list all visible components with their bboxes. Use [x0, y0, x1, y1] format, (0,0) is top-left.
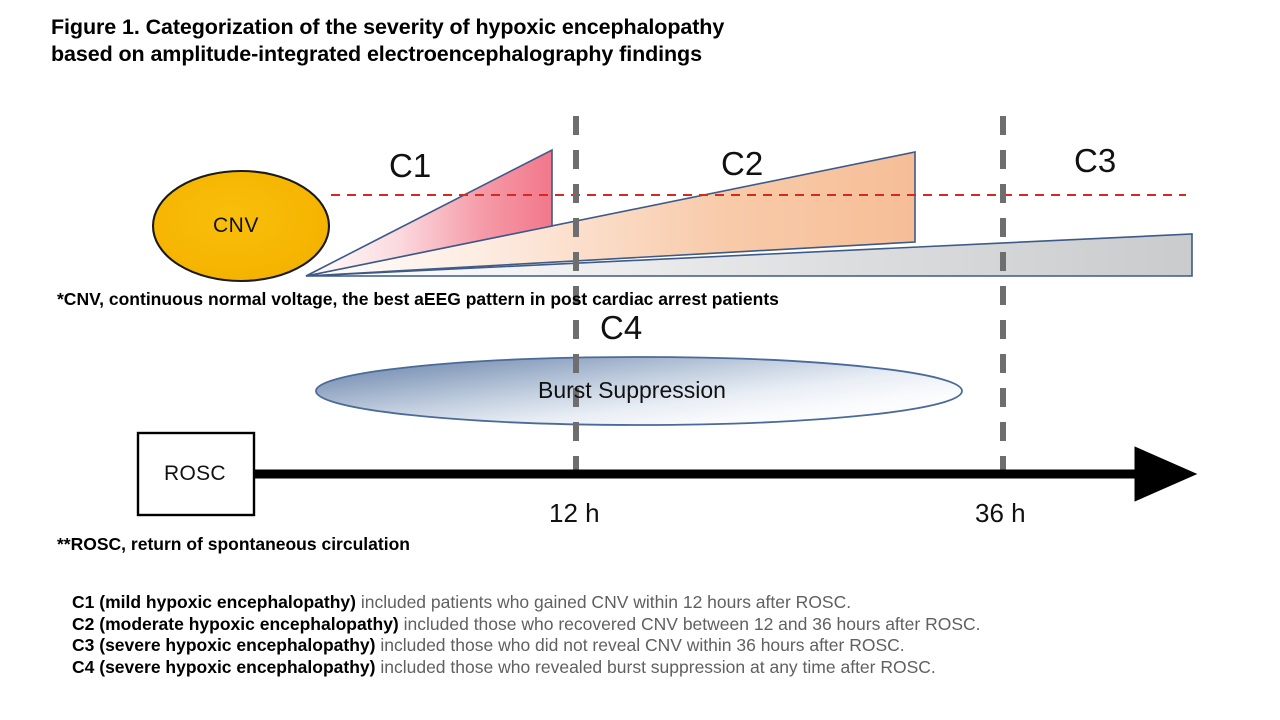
- legend-description: included those who recovered CNV between…: [404, 614, 981, 634]
- footnote-cnv: *CNV, continuous normal voltage, the bes…: [57, 291, 779, 309]
- category-label-c2: C2: [721, 147, 763, 180]
- legend-code: C2: [72, 614, 94, 634]
- burst-suppression-label: Burst Suppression: [538, 379, 726, 402]
- legend-severity: (moderate hypoxic encephalopathy): [99, 614, 399, 634]
- legend-block: C1 (mild hypoxic encephalopathy) include…: [72, 592, 1252, 678]
- legend-code: C1: [72, 592, 94, 612]
- legend-row: C3 (severe hypoxic encephalopathy) inclu…: [72, 635, 1252, 657]
- legend-code: C4: [72, 657, 94, 677]
- legend-description: included patients who gained CNV within …: [361, 592, 851, 612]
- legend-description: included those who did not reveal CNV wi…: [380, 635, 904, 655]
- legend-severity: (mild hypoxic encephalopathy): [99, 592, 356, 612]
- legend-severity: (severe hypoxic encephalopathy): [99, 657, 375, 677]
- legend-row: C4 (severe hypoxic encephalopathy) inclu…: [72, 657, 1252, 679]
- category-label-c3: C3: [1074, 144, 1116, 177]
- timeline-tick-36h: 36 h: [975, 500, 1026, 526]
- legend-description: included those who revealed burst suppre…: [380, 657, 935, 677]
- legend-row: C2 (moderate hypoxic encephalopathy) inc…: [72, 614, 1252, 636]
- cnv-ellipse-label: CNV: [213, 215, 259, 236]
- figure-container: Figure 1. Categorization of the severity…: [0, 0, 1280, 720]
- footnote-rosc: **ROSC, return of spontaneous circulatio…: [57, 536, 410, 554]
- timeline-tick-12h: 12 h: [549, 500, 600, 526]
- category-label-c4: C4: [600, 311, 642, 344]
- rosc-box-label: ROSC: [164, 463, 226, 484]
- legend-code: C3: [72, 635, 94, 655]
- legend-row: C1 (mild hypoxic encephalopathy) include…: [72, 592, 1252, 614]
- legend-severity: (severe hypoxic encephalopathy): [99, 635, 375, 655]
- category-label-c1: C1: [389, 149, 431, 182]
